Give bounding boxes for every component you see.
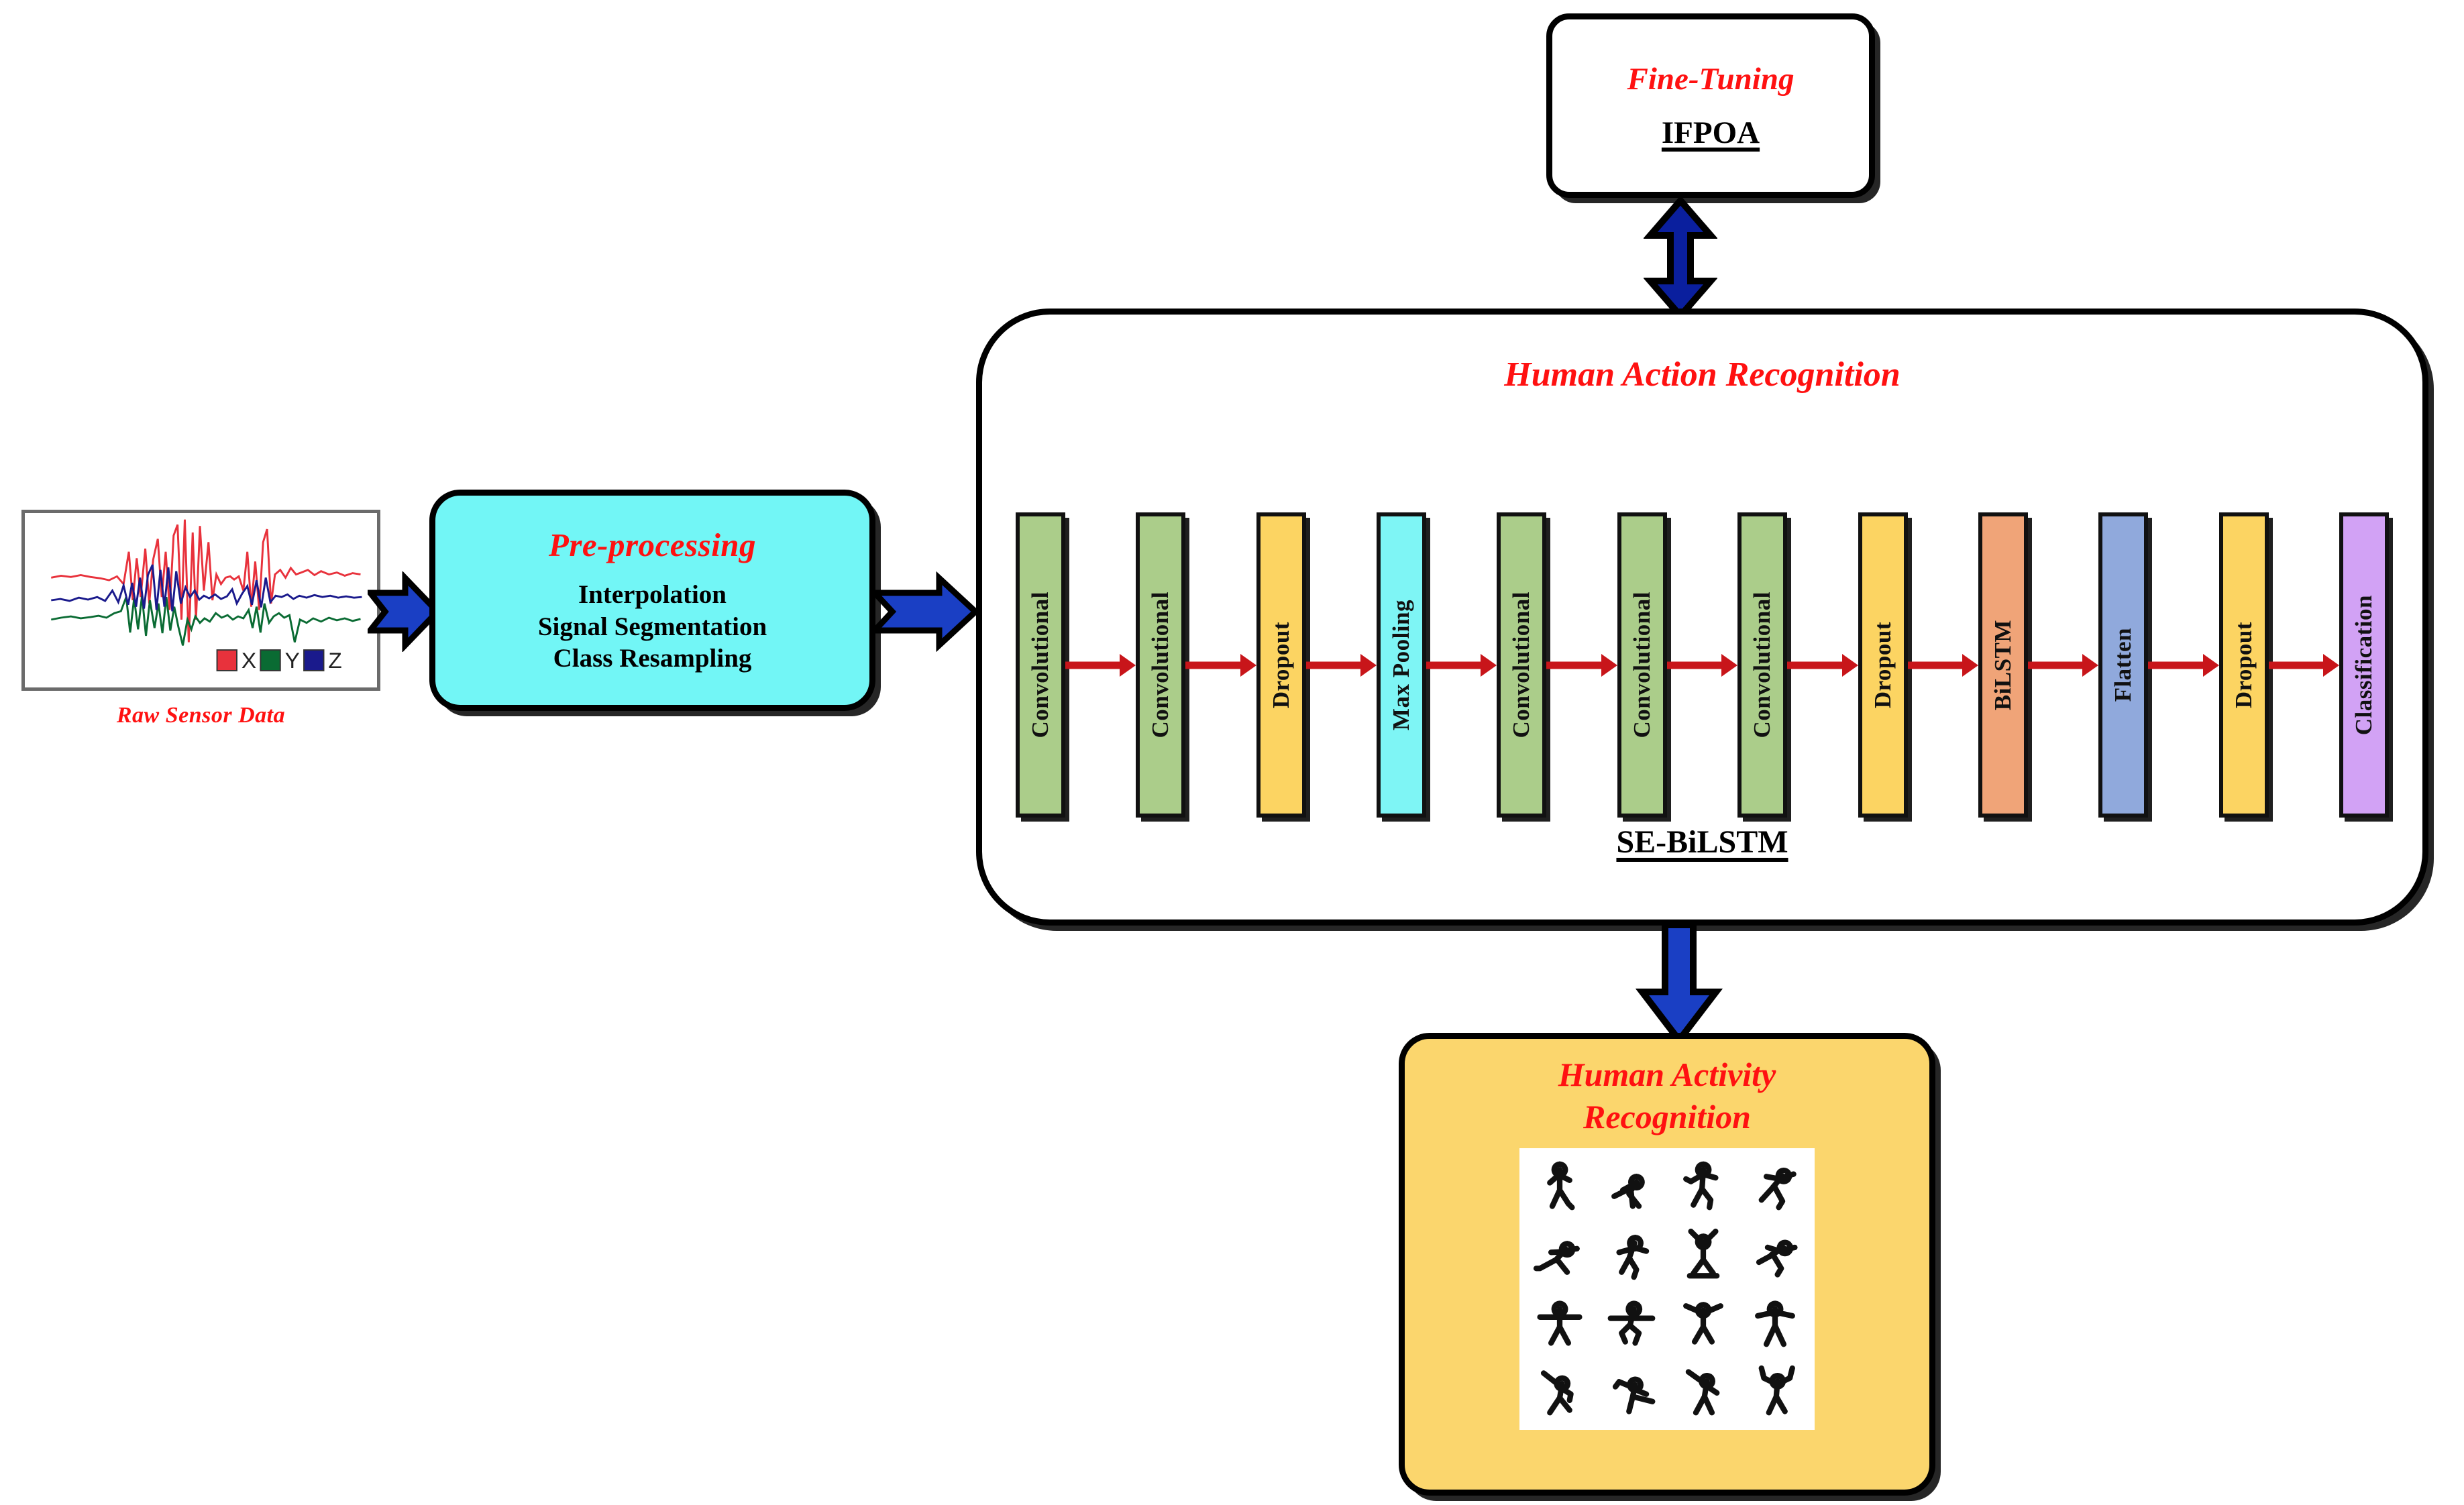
- preprocessing-step-class-resampling: Class Resampling: [553, 643, 752, 675]
- preprocessing-step-interpolation: Interpolation: [578, 579, 727, 611]
- activity-standing: [1739, 1289, 1811, 1357]
- activity-flexing: [1739, 1357, 1811, 1426]
- fine-tuning-box: Fine-Tuning IFPOA: [1546, 13, 1875, 198]
- layer-label: Convolutional: [1508, 592, 1535, 738]
- jumping-jack-icon: [1672, 1224, 1734, 1286]
- layer-flow-arrow: [1185, 654, 1256, 677]
- preprocessing-box: Pre-processing Interpolation Signal Segm…: [429, 490, 875, 711]
- layer-dropout-10[interactable]: Dropout: [2219, 512, 2269, 818]
- layer-convolutional-6[interactable]: Convolutional: [1737, 512, 1787, 818]
- output-title-line-2: Recognition: [1583, 1098, 1751, 1135]
- layer-flow-arrow: [1426, 654, 1497, 677]
- activity-crawling: [1595, 1152, 1667, 1221]
- layer-max-pooling-3[interactable]: Max Pooling: [1377, 512, 1426, 818]
- activity-squatting: [1595, 1289, 1667, 1357]
- activity-sprinting: [1739, 1152, 1811, 1221]
- layer-flow-arrow: [2148, 654, 2218, 677]
- activity-walking: [1523, 1152, 1595, 1221]
- standing-icon: [1744, 1292, 1806, 1354]
- running-icon: [1672, 1156, 1734, 1217]
- layer-label: Convolutional: [1629, 592, 1656, 738]
- standing-arms-out-icon: [1529, 1292, 1591, 1354]
- preprocessing-step-signal-segmentation: Signal Segmentation: [538, 611, 767, 643]
- waving-icon: [1672, 1361, 1734, 1423]
- lunging-icon: [1529, 1224, 1591, 1286]
- raw-sensor-caption: Raw Sensor Data: [21, 703, 380, 728]
- layer-bilstm-8[interactable]: BiLSTM: [1978, 512, 2028, 818]
- layer-label: BiLSTM: [1990, 620, 2017, 710]
- layer-flow-arrow: [1667, 654, 1737, 677]
- layer-flow-arrow: [1908, 654, 1978, 677]
- output-title-line-1: Human Activity: [1558, 1056, 1776, 1093]
- human-activity-recognition-output-box: Human Activity Recognition: [1399, 1033, 1935, 1496]
- squatting-icon: [1601, 1292, 1662, 1354]
- layer-label: Classification: [2351, 595, 2377, 735]
- layer-convolutional-0[interactable]: Convolutional: [1016, 512, 1065, 818]
- diving-icon: [1744, 1224, 1806, 1286]
- activity-jogging: [1595, 1221, 1667, 1289]
- activity-pictogram-grid: [1519, 1148, 1815, 1430]
- jogging-icon: [1601, 1224, 1662, 1286]
- activity-lunging: [1523, 1221, 1595, 1289]
- layer-flow-arrow: [1787, 654, 1858, 677]
- kicking-icon: [1601, 1361, 1662, 1423]
- arrow-preprocess-to-har: [872, 571, 979, 652]
- fine-tuning-algorithm-label: IFPOA: [1662, 115, 1760, 151]
- reaching-icon: [1529, 1361, 1591, 1423]
- sprinting-icon: [1744, 1156, 1806, 1217]
- layer-flatten-9[interactable]: Flatten: [2098, 512, 2148, 818]
- activity-reaching: [1523, 1357, 1595, 1426]
- svg-text:Y: Y: [285, 649, 300, 673]
- har-title: Human Action Recognition: [982, 355, 2422, 394]
- layer-flow-arrow: [1306, 654, 1377, 677]
- activity-star-pose: [1667, 1289, 1739, 1357]
- layer-flow-arrow: [2028, 654, 2098, 677]
- output-title: Human Activity Recognition: [1558, 1054, 1776, 1137]
- flexing-icon: [1744, 1361, 1806, 1423]
- arrow-finetuning-har-bidirectional: [1644, 198, 1717, 319]
- preprocessing-title: Pre-processing: [549, 526, 756, 564]
- layer-label: Flatten: [2110, 628, 2137, 702]
- model-name-label: SE-BiLSTM: [982, 824, 2422, 860]
- human-action-recognition-container: Human Action Recognition ConvolutionalCo…: [976, 309, 2428, 926]
- walking-icon: [1529, 1156, 1591, 1217]
- layer-label: Dropout: [1268, 622, 1295, 708]
- layer-convolutional-1[interactable]: Convolutional: [1136, 512, 1185, 818]
- activity-jumping-jack: [1667, 1221, 1739, 1289]
- crawling-icon: [1601, 1156, 1662, 1217]
- raw-sensor-chart: X Y Z: [21, 510, 380, 691]
- layer-convolutional-5[interactable]: Convolutional: [1617, 512, 1667, 818]
- layer-convolutional-4[interactable]: Convolutional: [1497, 512, 1546, 818]
- layer-label: Convolutional: [1147, 592, 1174, 738]
- activity-diving: [1739, 1221, 1811, 1289]
- layer-classification-11[interactable]: Classification: [2339, 512, 2389, 818]
- layer-flow-arrow: [2269, 654, 2339, 677]
- layer-label: Dropout: [1870, 622, 1896, 708]
- activity-standing-arms-out: [1523, 1289, 1595, 1357]
- layer-dropout-2[interactable]: Dropout: [1256, 512, 1306, 818]
- layer-flow-arrow: [1546, 654, 1617, 677]
- network-layer-strip: ConvolutionalConvolutionalDropoutMax Poo…: [1016, 512, 2389, 818]
- raw-sensor-waveform: X Y Z: [25, 513, 377, 687]
- raw-sensor-legend: X Y Z: [217, 649, 342, 673]
- layer-label: Convolutional: [1749, 592, 1776, 738]
- activity-kicking: [1595, 1357, 1667, 1426]
- layer-label: Max Pooling: [1388, 600, 1415, 730]
- star-pose-icon: [1672, 1292, 1734, 1354]
- layer-label: Convolutional: [1027, 592, 1054, 738]
- fine-tuning-title: Fine-Tuning: [1627, 61, 1795, 97]
- layer-flow-arrow: [1065, 654, 1136, 677]
- layer-label: Dropout: [2231, 622, 2257, 708]
- activity-running: [1667, 1152, 1739, 1221]
- svg-text:Z: Z: [328, 649, 341, 673]
- arrow-har-to-output: [1636, 922, 1723, 1043]
- svg-text:X: X: [242, 649, 256, 673]
- layer-dropout-7[interactable]: Dropout: [1858, 512, 1908, 818]
- activity-waving: [1667, 1357, 1739, 1426]
